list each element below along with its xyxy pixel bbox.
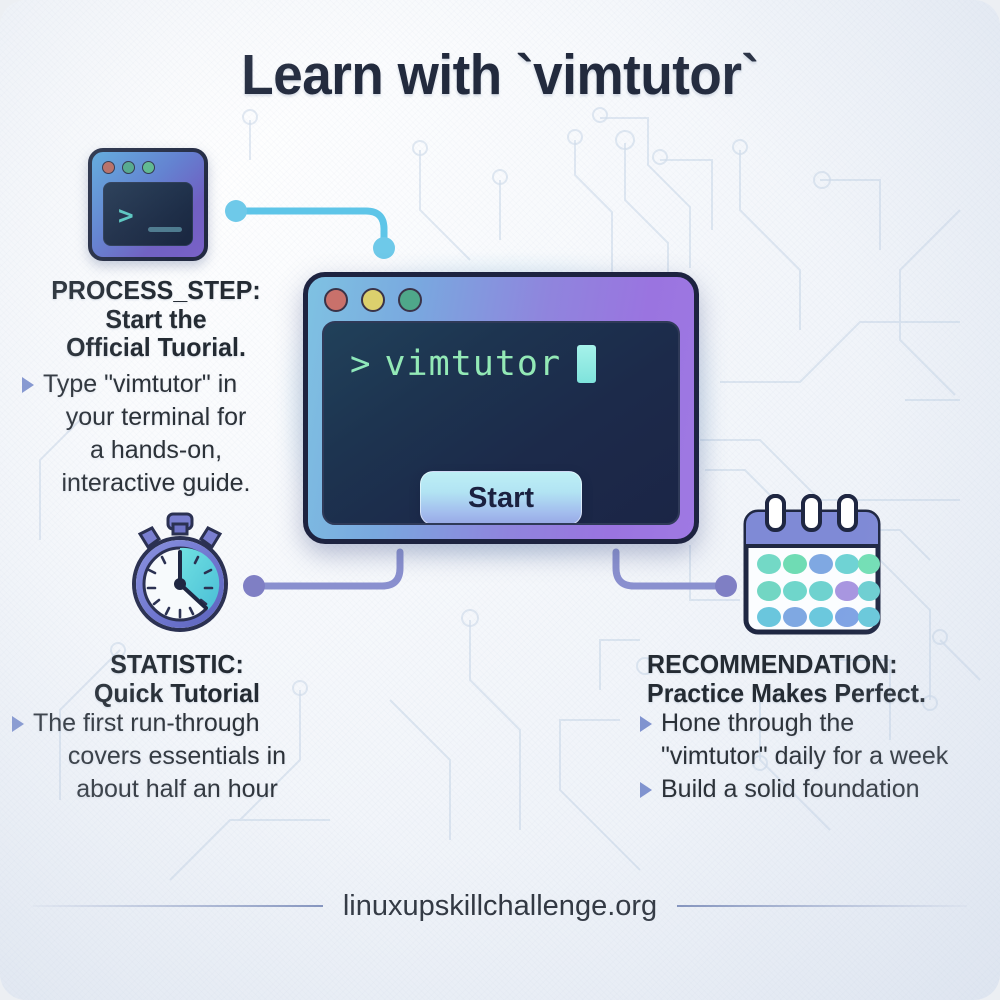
- bullet-text: Hone through the: [661, 707, 854, 740]
- bullet-triangle-icon: [640, 782, 652, 798]
- close-icon[interactable]: [324, 288, 348, 312]
- bullet-triangle-icon: [22, 377, 34, 393]
- mini-terminal-prompt-icon: >: [118, 203, 134, 229]
- bullet-text: Build a solid foundation: [661, 773, 920, 806]
- process-step-label: PROCESS_STEP:: [27, 276, 284, 305]
- recommendation-title: Practice Makes Perfect.: [647, 679, 985, 708]
- statistic-title: Quick Tutorial: [19, 679, 336, 708]
- bullet-text: The first run-through: [33, 707, 260, 740]
- terminal-screen: > vimtutor Start: [322, 321, 680, 525]
- footer-rule-left: [33, 905, 323, 907]
- statistic-bullets: The first run-through covers essentials …: [12, 707, 342, 806]
- bullet-text: about half an hour: [12, 773, 342, 806]
- start-button[interactable]: Start: [420, 471, 582, 525]
- main-terminal-window: > vimtutor Start: [303, 272, 699, 544]
- statistic-label: STATISTIC:: [19, 650, 336, 679]
- mini-terminal-traffic-lights: [102, 161, 155, 174]
- process-step-bullets: Type "vimtutor" in your terminal for a h…: [22, 368, 290, 500]
- mini-terminal-cursor: [148, 227, 182, 232]
- footer-url[interactable]: linuxupskillchallenge.org: [343, 890, 657, 923]
- block-recommendation: RECOMMENDATION: Practice Makes Perfect. …: [640, 650, 992, 806]
- terminal-window-icon: >: [88, 148, 208, 261]
- bullet-triangle-icon: [12, 716, 24, 732]
- terminal-command-text: vimtutor: [384, 347, 561, 382]
- bullet-triangle-icon: [640, 716, 652, 732]
- process-step-heading: PROCESS_STEP: Start the Official Tuorial…: [27, 276, 284, 362]
- process-step-title-line1: Start the: [27, 305, 284, 334]
- process-step-title-line2: Official Tuorial.: [27, 333, 284, 362]
- bullet-text: a hands-on,: [22, 434, 290, 467]
- bullet-text: covers essentials in: [12, 740, 342, 773]
- bullet-text: Type "vimtutor" in: [43, 368, 237, 401]
- recommendation-bullets: Hone through the "vimtutor" daily for a …: [640, 707, 992, 806]
- stopwatch-icon: [118, 512, 242, 636]
- recommendation-label: RECOMMENDATION:: [647, 650, 985, 679]
- mini-terminal-screen: >: [103, 182, 193, 246]
- maximize-icon[interactable]: [398, 288, 422, 312]
- infographic-canvas: Learn with `vimtutor` > >: [0, 0, 1000, 1000]
- bullet-text: your terminal for: [22, 401, 290, 434]
- block-process-step: PROCESS_STEP: Start the Official Tuorial…: [22, 276, 290, 500]
- block-statistic: STATISTIC: Quick Tutorial The first run-…: [12, 650, 342, 806]
- terminal-traffic-lights: [324, 288, 422, 312]
- recommendation-heading: RECOMMENDATION: Practice Makes Perfect.: [647, 650, 985, 707]
- terminal-prompt-icon: >: [350, 347, 370, 381]
- bullet-text: "vimtutor" daily for a week: [661, 740, 992, 773]
- calendar-icon: [738, 494, 886, 636]
- minimize-icon[interactable]: [361, 288, 385, 312]
- footer-rule-right: [677, 905, 967, 907]
- bullet-text: interactive guide.: [22, 467, 290, 500]
- footer: linuxupskillchallenge.org: [0, 886, 1000, 926]
- statistic-heading: STATISTIC: Quick Tutorial: [19, 650, 336, 707]
- list-item: Type "vimtutor" in: [22, 368, 290, 401]
- list-item: Hone through the: [640, 707, 992, 740]
- terminal-command-line: > vimtutor: [350, 345, 596, 383]
- list-item: The first run-through: [12, 707, 342, 740]
- terminal-cursor: [577, 345, 596, 383]
- list-item: Build a solid foundation: [640, 773, 992, 806]
